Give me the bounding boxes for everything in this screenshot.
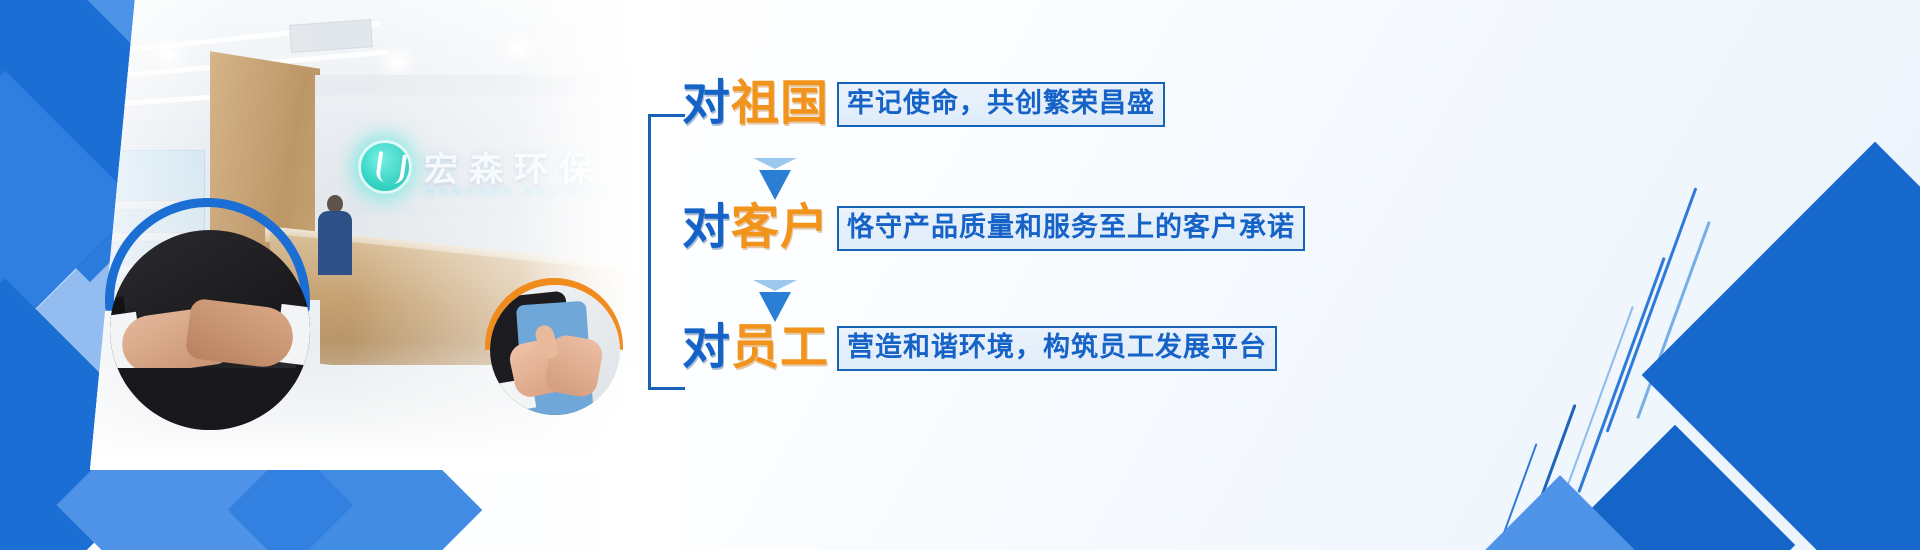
value-lead-prefix: 对: [682, 77, 731, 130]
deco-slash-6: [1495, 443, 1538, 550]
applause-photo: [490, 285, 620, 415]
value-lead-country: 对祖国: [682, 80, 829, 128]
value-lead-prefix: 对: [682, 321, 731, 374]
handshake-photo: [110, 230, 310, 430]
value-lead-keyword: 员工: [731, 321, 829, 374]
deco-diamond-right-large: [1642, 142, 1920, 550]
value-lead-customer: 对客户: [682, 204, 829, 252]
value-tag-customer: 恪守产品质量和服务至上的客户承诺: [837, 206, 1305, 251]
value-row-customer: 对客户 恪守产品质量和服务至上的客户承诺: [682, 204, 1305, 252]
value-lead-keyword: 祖国: [731, 77, 829, 130]
values-list: 对祖国 牢记使命，共创繁荣昌盛 对客户 恪守产品质量和服务至上的客户承诺 对员工…: [648, 62, 1348, 392]
value-lead-prefix: 对: [682, 201, 731, 254]
value-lead-keyword: 客户: [731, 201, 829, 254]
handshake-foreground-shadow: [110, 368, 310, 430]
value-lead-employee: 对员工: [682, 324, 829, 372]
arrow-bottom-part: [759, 292, 791, 322]
deco-slash-4: [1560, 306, 1634, 504]
company-values-banner: 宏森环保 HONGSEN ENVIRONMENTAL: [0, 0, 1920, 550]
arrow-bottom-part: [759, 170, 791, 200]
value-tag-country: 牢记使命，共创繁荣昌盛: [837, 82, 1165, 127]
deco-slash-5: [1522, 404, 1576, 546]
value-tag-employee: 营造和谐环境，构筑员工发展平台: [837, 326, 1277, 371]
arrow-top-part: [753, 158, 797, 169]
brace-bracket-icon: [648, 114, 685, 390]
arrow-top-part: [753, 280, 797, 291]
value-row-employee: 对员工 营造和谐环境，构筑员工发展平台: [682, 324, 1277, 372]
deco-diamond-right-mid: [1555, 425, 1795, 550]
deco-slash-1: [1606, 187, 1698, 432]
value-row-country: 对祖国 牢记使命，共创繁荣昌盛: [682, 80, 1165, 128]
